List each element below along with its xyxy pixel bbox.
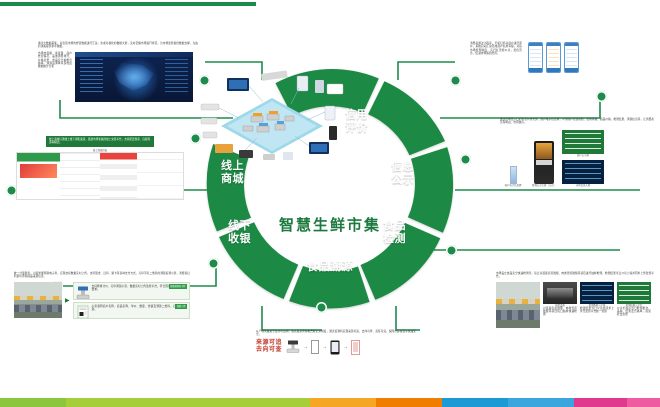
inspection-equipment-photo[interactable] bbox=[543, 282, 577, 304]
panel-information-disclosure: 通过市场出入口的信息公示大屏、商户电子信息牌，公示商户营业执照、信用等级、商品价… bbox=[500, 118, 654, 187]
disclosure-kiosk[interactable] bbox=[534, 141, 554, 184]
market-info-big-screen[interactable] bbox=[562, 160, 604, 184]
traceability-slogan: 来源可追 去向可查 bbox=[256, 340, 282, 354]
node-food-inspection[interactable] bbox=[446, 245, 457, 256]
offline-cashier-scale-card[interactable]: 智能溯源电子秤 支持称重计价、打印溯源小票、数据实时上传监管平台，符合国家计量检… bbox=[73, 282, 190, 300]
node-offline-cashier[interactable] bbox=[208, 258, 219, 269]
node-right-top[interactable] bbox=[596, 91, 607, 102]
merchant-disclosure-screen[interactable] bbox=[562, 130, 604, 154]
segment-food-traceability bbox=[289, 266, 370, 308]
phone-scan-icon[interactable] bbox=[330, 340, 340, 355]
panel-credit-evaluation-blurb: 消费者通过小程序、手机扫码对商户进行评价，系统自动汇总形成商户信用等级，对接市场… bbox=[470, 42, 522, 73]
panel-food-traceability: 从产地到餐桌全链条可追溯，落实进货查验和台账记录制度，通过追溯码实现来源可追、去… bbox=[256, 330, 452, 355]
inspection-lab-photo[interactable] bbox=[496, 282, 540, 328]
panel-food-inspection: 市场设立食品安全快速检测室，每日对蔬菜农药残留、肉类兽药残留等项目进行抽样检测，… bbox=[496, 272, 654, 328]
panel-data-analysis-blurb: 通过大数据采集，对农贸市场的经营数据进行汇总，生成可视化的数据大屏，实时掌握市场… bbox=[38, 42, 198, 49]
inspection-data-board[interactable] bbox=[580, 282, 614, 304]
data-analysis-dashboard-screenshot[interactable] bbox=[75, 52, 193, 102]
flow-arrow-2: → bbox=[322, 344, 327, 350]
panel-food-traceability-blurb: 从产地到餐桌全链条可追溯，落实进货查验和台账记录制度，通过追溯码实现来源可追、去… bbox=[256, 330, 416, 337]
receipt-icon bbox=[76, 305, 90, 319]
merchant-info-card-device[interactable] bbox=[510, 166, 517, 184]
panel-food-inspection-blurb: 市场设立食品安全快速检测室，每日对蔬菜农药残留、肉类兽药残留等项目进行抽样检测，… bbox=[496, 272, 654, 279]
isometric-market-scene bbox=[199, 68, 345, 166]
phone-mockup-credit-rank[interactable] bbox=[546, 42, 561, 73]
panel-data-analysis-note: 市场交易额、客流量、商户经营情况、品类销售排行、价格走势、食品安全抽检合格率、溯… bbox=[38, 52, 72, 102]
merchant-info-card-caption: 商户电子信息牌 bbox=[500, 184, 526, 187]
qrcode-icon[interactable] bbox=[311, 340, 319, 354]
node-online-mall[interactable] bbox=[190, 133, 201, 144]
receipt-card-tag: 溯源小票 bbox=[175, 304, 187, 309]
smart-scale-icon bbox=[76, 286, 90, 300]
node-food-traceability[interactable] bbox=[316, 302, 327, 313]
panel-data-analysis: 通过大数据采集，对农贸市场的经营数据进行汇总，生成可视化的数据大屏，实时掌握市场… bbox=[38, 42, 198, 102]
offline-cashier-market-photo[interactable] bbox=[14, 282, 62, 318]
flow-arrow-1: → bbox=[303, 344, 308, 350]
panel-information-disclosure-blurb: 通过市场出入口的信息公示大屏、商户电子信息牌，公示商户营业执照、信用等级、商品价… bbox=[500, 118, 654, 125]
traceability-receipt-icon[interactable] bbox=[351, 340, 360, 355]
node-data-analysis[interactable] bbox=[199, 75, 210, 86]
panel-offline-cashier: 统一计量器具，对接智能溯源电子秤，实现交易数据实时上传，支持现金、扫码、刷卡等多… bbox=[14, 272, 190, 319]
hub-center-title: 智慧生鲜市集 bbox=[199, 214, 461, 235]
phone-mockup-evaluation[interactable] bbox=[528, 42, 543, 73]
merchant-disclosure-screen-caption: 商户公示屏 bbox=[562, 154, 604, 157]
node-information-disclosure[interactable] bbox=[460, 154, 471, 165]
credit-evaluation-phone-mockups bbox=[528, 42, 579, 73]
market-info-big-screen-caption: 市场信息大屏 bbox=[562, 184, 604, 187]
node-credit-evaluation[interactable] bbox=[450, 75, 461, 86]
panel-offline-cashier-blurb: 统一计量器具，对接智能溯源电子秤，实现交易数据实时上传，支持现金、扫码、刷卡等多… bbox=[14, 272, 190, 279]
phone-mockup-merchant-detail[interactable] bbox=[564, 42, 579, 73]
flow-arrow-3: → bbox=[343, 344, 348, 350]
scale-icon[interactable] bbox=[286, 340, 300, 354]
scale-card-tag: 智能溯源电子秤 bbox=[169, 284, 187, 289]
panel-online-mall: 线上商城打通线上线下销售渠道，搭建市场专属的线上交易平台，支持配送到家、自提等多… bbox=[16, 136, 184, 200]
panel-credit-evaluation: 消费者通过小程序、手机扫码对商户进行评价，系统自动汇总形成商户信用等级，对接市场… bbox=[470, 42, 652, 73]
disclosure-kiosk-caption: 智慧公示大屏（立式） bbox=[531, 184, 557, 187]
online-mall-screenshot[interactable] bbox=[16, 152, 184, 200]
hub-wheel: 数据分析 信用评价 信息公示 食品检测 食品溯源 线下收银 线上商城 bbox=[199, 68, 461, 313]
panel-online-mall-blurb: 线上商城打通线上线下销售渠道，搭建市场专属的线上交易平台，支持配送到家、自提等多… bbox=[46, 136, 154, 147]
traceability-flow: → → → bbox=[286, 340, 360, 355]
inspection-result-board[interactable] bbox=[617, 282, 651, 304]
offline-cashier-receipt-card[interactable]: 溯源小票 小票载明商户名称、商品名称、单价、数量、金额及溯源二维码，扫码可查来源… bbox=[73, 302, 190, 319]
